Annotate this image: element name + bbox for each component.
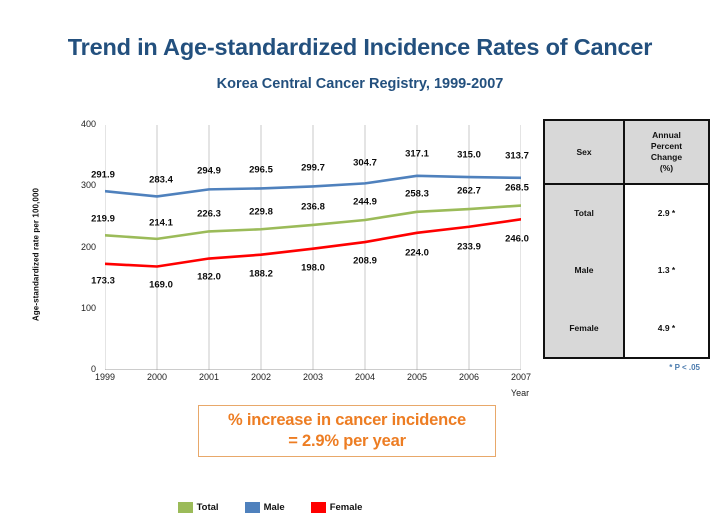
data-label: 317.1 — [405, 148, 429, 159]
data-label: 208.9 — [353, 256, 377, 267]
legend-label: Total — [197, 502, 219, 513]
table-cell-apc: 1.3 * — [625, 242, 708, 299]
data-label: 219.9 — [91, 214, 115, 225]
data-label: 246.0 — [505, 234, 529, 245]
page-title: Trend in Age-standardized Incidence Rate… — [0, 34, 720, 61]
apc-table: Sex AnnualPercentChange(%) Total 2.9 * M… — [543, 119, 710, 359]
table-cell-apc: 2.9 * — [625, 185, 708, 242]
table-row: Male 1.3 * — [545, 242, 708, 299]
data-label: 226.3 — [197, 209, 221, 220]
legend-item-total[interactable]: Total — [178, 502, 219, 513]
legend-swatch-female — [311, 502, 326, 513]
data-label: 173.3 — [91, 275, 115, 286]
x-axis-tick: 2002 — [239, 372, 283, 382]
x-axis-label: Year — [498, 388, 542, 398]
table-header-apc-line: (%) — [651, 163, 682, 174]
data-label: 182.0 — [197, 271, 221, 282]
data-label: 268.5 — [505, 182, 529, 193]
data-label: 233.9 — [457, 241, 481, 252]
data-label: 244.9 — [353, 196, 377, 207]
data-label: 188.2 — [249, 268, 273, 279]
table-header-row: Sex AnnualPercentChange(%) — [545, 121, 708, 185]
data-label: 214.1 — [149, 217, 173, 228]
data-label: 236.8 — [301, 201, 325, 212]
data-label: 299.7 — [301, 163, 325, 174]
data-label: 294.9 — [197, 166, 221, 177]
data-label: 169.0 — [149, 280, 173, 291]
legend-label: Female — [330, 502, 363, 513]
table-row: Total 2.9 * — [545, 185, 708, 242]
callout-line-2: = 2.9% per year — [288, 431, 406, 452]
table-header-apc-line: Change — [651, 152, 682, 163]
y-axis-tick: 400 — [62, 119, 96, 129]
page-subtitle: Korea Central Cancer Registry, 1999-2007 — [0, 76, 720, 92]
x-axis-tick: 2004 — [343, 372, 387, 382]
data-label: 283.4 — [149, 175, 173, 186]
legend-item-male[interactable]: Male — [245, 502, 285, 513]
y-axis-tick: 200 — [62, 242, 96, 252]
data-label: 291.9 — [91, 170, 115, 181]
slide: Trend in Age-standardized Incidence Rate… — [0, 0, 720, 479]
data-label: 224.0 — [405, 247, 429, 258]
x-axis-tick: 2003 — [291, 372, 335, 382]
table-cell-sex: Female — [545, 300, 625, 357]
y-axis-tick: 100 — [62, 303, 96, 313]
table-cell-sex: Total — [545, 185, 625, 242]
x-axis-tick: 1999 — [83, 372, 127, 382]
table-footnote: * P < .05 — [543, 363, 710, 372]
y-axis-ticks: 0100200300400 — [60, 110, 96, 410]
table-header-sex: Sex — [545, 121, 625, 183]
data-label: 198.0 — [301, 262, 325, 273]
table-row: Female 4.9 * — [545, 300, 708, 357]
line-chart: Age-standardized rate per 100,000 010020… — [0, 110, 540, 410]
table-header-apc: AnnualPercentChange(%) — [625, 121, 708, 183]
y-axis-tick: 300 — [62, 180, 96, 190]
table-cell-sex: Male — [545, 242, 625, 299]
data-label: 258.3 — [405, 188, 429, 199]
data-label: 315.0 — [457, 150, 481, 161]
x-axis-tick: 2001 — [187, 372, 231, 382]
callout-box: % increase in cancer incidence = 2.9% pe… — [198, 405, 496, 457]
legend-swatch-male — [245, 502, 260, 513]
x-axis-tick: 2005 — [395, 372, 439, 382]
y-axis-label: Age-standardized rate per 100,000 — [32, 175, 41, 335]
chart-legend: TotalMaleFemale — [0, 502, 540, 513]
callout-line-1: % increase in cancer incidence — [228, 410, 466, 431]
table-header-apc-line: Annual — [651, 130, 682, 141]
x-axis-tick: 2007 — [499, 372, 543, 382]
data-label: 304.7 — [353, 158, 377, 169]
legend-swatch-total — [178, 502, 193, 513]
table-cell-apc: 4.9 * — [625, 300, 708, 357]
x-axis-tick: 2000 — [135, 372, 179, 382]
legend-label: Male — [264, 502, 285, 513]
data-label: 262.7 — [457, 186, 481, 197]
legend-item-female[interactable]: Female — [311, 502, 363, 513]
data-label: 313.7 — [505, 150, 529, 161]
x-axis-tick: 2006 — [447, 372, 491, 382]
data-label: 229.8 — [249, 207, 273, 218]
data-label: 296.5 — [249, 165, 273, 176]
table-header-apc-line: Percent — [651, 141, 682, 152]
